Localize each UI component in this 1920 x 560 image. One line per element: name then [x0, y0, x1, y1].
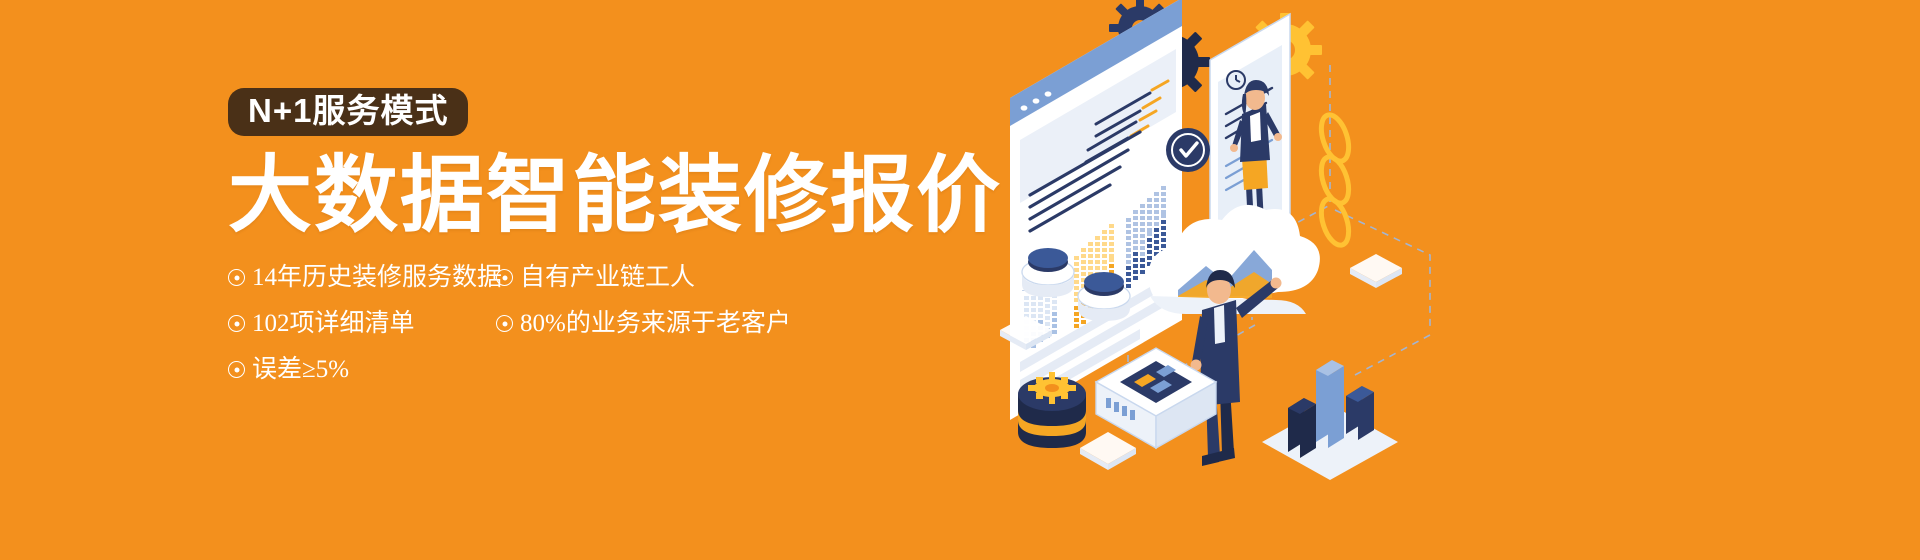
list-item: 误差≥5% — [228, 357, 496, 382]
promo-banner: N+1服务模式 大数据智能装修报价 14年历史装修服务数据 自有产业链工人 10… — [0, 0, 1920, 560]
list-item-label: 14年历史装修服务数据 — [252, 265, 502, 290]
list-item: 102项详细清单 — [228, 311, 496, 336]
service-mode-badge: N+1服务模式 — [228, 88, 468, 136]
bullet-dot-icon — [228, 269, 245, 286]
banner-text-block: N+1服务模式 大数据智能装修报价 14年历史装修服务数据 自有产业链工人 10… — [228, 88, 1008, 403]
isometric-big-data-illustration — [1000, 0, 1660, 560]
list-item-label: 自有产业链工人 — [520, 265, 695, 290]
checkmark-badge — [1166, 128, 1210, 172]
list-item-label: 80%的业务来源于老客户 — [520, 311, 791, 336]
bar-chart-columns — [1262, 360, 1398, 480]
ring-stack — [1316, 111, 1354, 248]
list-item: 14年历史装修服务数据 — [228, 265, 496, 290]
gear-cylinder — [1018, 372, 1086, 448]
list-item: 80%的业务来源于老客户 — [496, 311, 826, 336]
list-item: 自有产业链工人 — [496, 265, 826, 290]
bullet-dot-icon — [228, 315, 245, 332]
list-item-label: 102项详细清单 — [252, 311, 415, 336]
bullet-dot-icon — [496, 315, 513, 332]
feature-bullet-list: 14年历史装修服务数据 自有产业链工人 102项详细清单 80%的业务来源于老客… — [228, 265, 868, 403]
bullet-dot-icon — [496, 269, 513, 286]
list-item-label: 误差≥5% — [252, 357, 349, 382]
bullet-dot-icon — [228, 361, 245, 378]
banner-headline: 大数据智能装修报价 — [228, 153, 1008, 237]
